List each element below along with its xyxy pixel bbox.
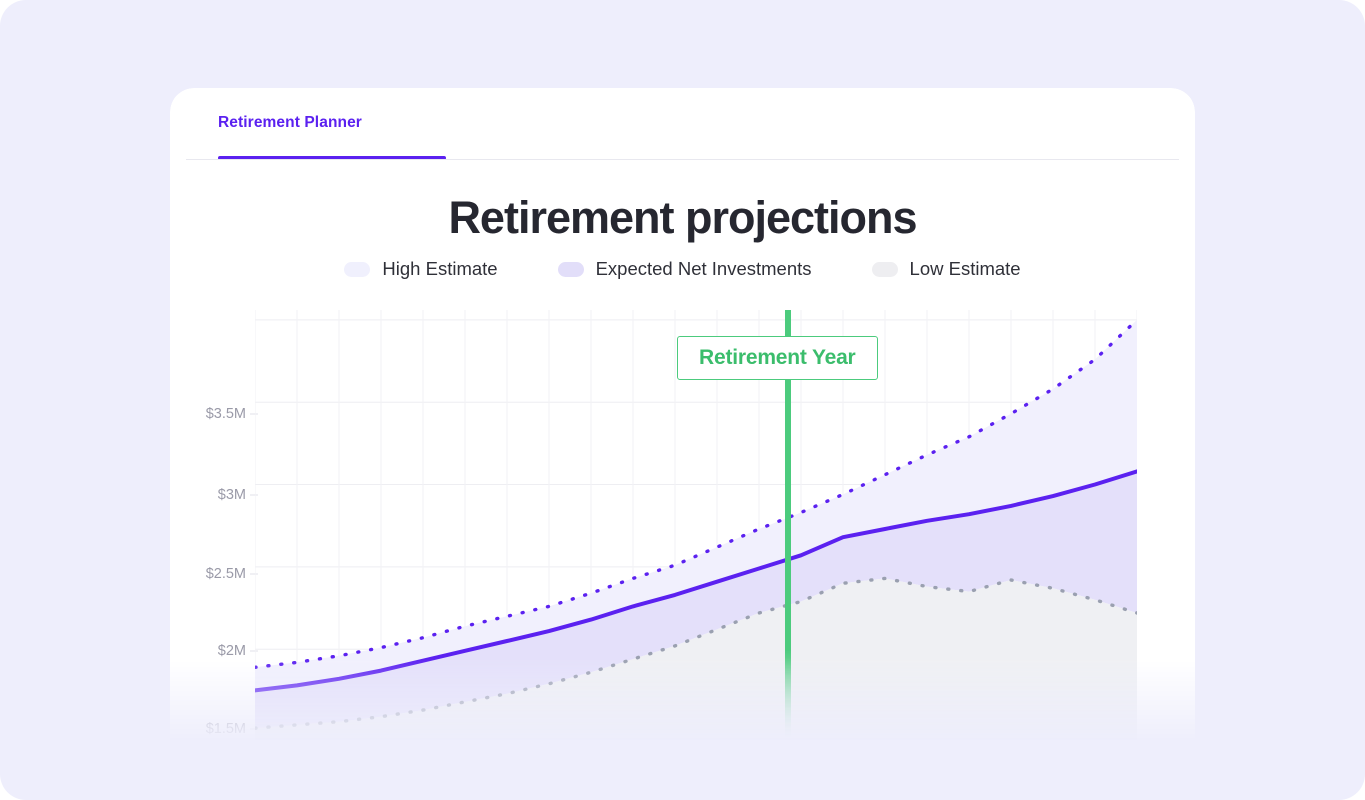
chart-area-fills <box>255 320 1137 748</box>
legend-swatch-icon <box>872 262 898 277</box>
legend-item-expected-net-investments[interactable]: Expected Net Investments <box>558 258 812 280</box>
legend-item-high-estimate[interactable]: High Estimate <box>344 258 497 280</box>
legend-item-low-estimate[interactable]: Low Estimate <box>872 258 1021 280</box>
tab-retirement-planner[interactable]: Retirement Planner <box>218 114 362 132</box>
retirement-year-badge: Retirement Year <box>677 336 878 380</box>
legend-label: Low Estimate <box>910 258 1021 280</box>
y-tick-label: $2.5M <box>206 566 246 582</box>
tab-bar: Retirement Planner <box>170 88 1195 160</box>
screenshot-root: Retirement Planner Retirement projection… <box>0 0 1365 800</box>
tab-bar-divider <box>186 159 1179 160</box>
y-tick-label: $1.5M <box>206 721 246 737</box>
chart-legend: High Estimate Expected Net Investments L… <box>170 258 1195 280</box>
legend-label: Expected Net Investments <box>596 258 812 280</box>
page-title: Retirement projections <box>170 192 1195 244</box>
chart-area: $3.5M $3M $2.5M $2M $1.5M $1M <box>170 310 1195 748</box>
legend-swatch-icon <box>344 262 370 277</box>
y-tick-label: $2M <box>218 643 246 659</box>
legend-label: High Estimate <box>382 258 497 280</box>
y-tick-label: $3.5M <box>206 406 246 422</box>
legend-swatch-icon <box>558 262 584 277</box>
y-tick-label: $3M <box>218 487 246 503</box>
y-axis: $3.5M $3M $2.5M $2M $1.5M $1M <box>170 310 258 748</box>
app-card: Retirement Planner Retirement projection… <box>170 88 1195 748</box>
